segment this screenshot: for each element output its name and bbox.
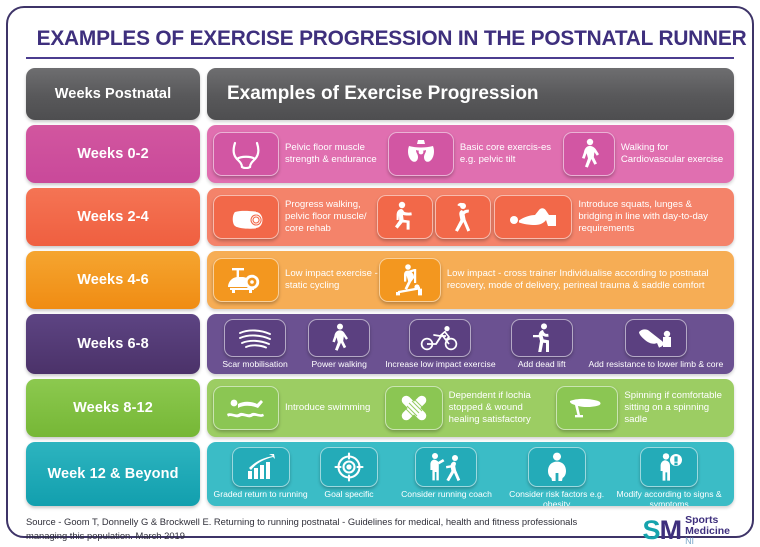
row-content-0-2: Pelvic floor muscle strength & endurance… bbox=[207, 125, 734, 183]
source-line-1: Source - Goom T, Donnelly G & Brockwell … bbox=[26, 515, 577, 529]
exercise-label: Pelvic floor muscle strength & endurance bbox=[285, 142, 388, 165]
header-week-column: Weeks Postnatal bbox=[26, 68, 200, 120]
row-content-4-6: Low impact exercise - static cycling bbox=[207, 251, 734, 309]
obese-person-icon bbox=[528, 447, 586, 487]
bladder-icon bbox=[213, 132, 279, 176]
exercise-label: Low impact exercise - static cycling bbox=[285, 268, 379, 291]
exercise-label: Spinning if comfortable sitting on a spi… bbox=[624, 390, 728, 425]
title-block: EXAMPLES OF EXERCISE PROGRESSION IN THE … bbox=[26, 22, 734, 59]
scar-lines-icon bbox=[224, 319, 286, 357]
exercise-label: Goal specific bbox=[324, 490, 373, 500]
exercise-label: Walking for Cardiovascular exercise bbox=[621, 142, 728, 165]
exercise-label: Basic core exercis-es e.g. pelvic tilt bbox=[460, 142, 563, 165]
exercise-label: Introduce squats, lunges & bridging in l… bbox=[578, 199, 728, 234]
week-label-4-6: Weeks 4-6 bbox=[26, 251, 200, 309]
plaster-cross-icon bbox=[385, 386, 443, 430]
exercise-item[interactable]: Low impact exercise - static cycling bbox=[213, 258, 379, 302]
bridging-person-icon bbox=[494, 195, 572, 239]
deadlift-icon bbox=[511, 319, 573, 357]
exercise-label: Scar mobilisation bbox=[222, 360, 287, 370]
week-label-2-4: Weeks 2-4 bbox=[26, 188, 200, 246]
exercise-label: Modify according to signs & symptoms bbox=[610, 490, 728, 506]
logo-wordmark: Sports Medicine NI bbox=[685, 515, 730, 547]
source-citation: Source - Goom T, Donnelly G & Brockwell … bbox=[26, 515, 577, 542]
exercise-item[interactable]: Low impact - cross trainer Individualise… bbox=[379, 258, 728, 302]
table-header-row: Weeks Postnatal Examples of Exercise Pro… bbox=[26, 68, 734, 120]
exercise-label: Power walking bbox=[311, 360, 366, 370]
sports-medicine-ni-logo: SM Sports Medicine NI bbox=[643, 515, 734, 547]
row-content-12-beyond: Graded return to running Goal specific bbox=[207, 442, 734, 506]
exercise-label: Consider running coach bbox=[401, 490, 492, 500]
exercise-label: Increase low impact exercise bbox=[385, 360, 495, 370]
exercise-item[interactable]: Basic core exercis-es e.g. pelvic tilt bbox=[388, 132, 563, 176]
pelvis-icon bbox=[388, 132, 454, 176]
exercise-label: Low impact - cross trainer Individualise… bbox=[447, 268, 728, 293]
logo-letter-m: M bbox=[660, 515, 682, 545]
exercise-item[interactable]: Dependent if lochia stopped & wound heal… bbox=[385, 386, 557, 430]
exercise-item[interactable]: Consider risk factors e.g. obesity bbox=[503, 447, 610, 506]
exercise-item[interactable]: Walking for Cardiovascular exercise bbox=[563, 132, 728, 176]
table-row: Weeks 8-12 Introduce swimming bbox=[26, 379, 734, 437]
week-label-6-8: Weeks 6-8 bbox=[26, 314, 200, 374]
exercise-item[interactable]: Add dead lift bbox=[500, 319, 584, 370]
table-row: Weeks 2-4 Progress walking, pelvic floor… bbox=[26, 188, 734, 246]
source-line-2: managing this population. March 2019 bbox=[26, 529, 577, 543]
static-bike-icon bbox=[213, 258, 279, 302]
exercise-item[interactable]: Progress walking, pelvic floor muscle/ c… bbox=[213, 195, 377, 239]
row-content-2-4: Progress walking, pelvic floor muscle/ c… bbox=[207, 188, 734, 246]
progression-table: Weeks Postnatal Examples of Exercise Pro… bbox=[26, 68, 734, 506]
squat-person-icon bbox=[377, 195, 433, 239]
exercise-item[interactable]: Power walking bbox=[297, 319, 381, 370]
logo-line-3: NI bbox=[685, 537, 730, 547]
table-row: Weeks 6-8 Scar mobilisation bbox=[26, 314, 734, 374]
lunge-person-icon bbox=[435, 195, 491, 239]
week-label-8-12: Weeks 8-12 bbox=[26, 379, 200, 437]
cross-trainer-icon bbox=[379, 258, 441, 302]
footer: Source - Goom T, Donnelly G & Brockwell … bbox=[26, 513, 734, 547]
logo-letter-s: S bbox=[643, 515, 660, 545]
exercise-label: Consider risk factors e.g. obesity bbox=[503, 490, 610, 506]
exercise-item[interactable]: Increase low impact exercise bbox=[381, 319, 499, 370]
exercise-label: Add resistance to lower limb & core bbox=[589, 360, 724, 370]
target-icon bbox=[320, 447, 378, 487]
exercise-item[interactable]: Consider running coach bbox=[390, 447, 503, 500]
foam-roller-icon bbox=[213, 195, 279, 239]
power-walking-icon bbox=[308, 319, 370, 357]
signs-symptoms-person-icon bbox=[640, 447, 698, 487]
running-coach-icon bbox=[415, 447, 477, 487]
exercise-item[interactable]: Introduce squats, lunges & bridging in l… bbox=[494, 195, 728, 239]
page-title: EXAMPLES OF EXERCISE PROGRESSION IN THE … bbox=[37, 26, 724, 51]
bar-chart-arrow-icon bbox=[232, 447, 290, 487]
bike-saddle-icon bbox=[556, 386, 618, 430]
table-row: Weeks 4-6 Low impact bbox=[26, 251, 734, 309]
exercise-item[interactable] bbox=[435, 195, 494, 239]
exercise-item[interactable]: Introduce swimming bbox=[213, 386, 385, 430]
table-row: Week 12 & Beyond Graded return to runnin… bbox=[26, 442, 734, 506]
logo-mark: SM bbox=[643, 517, 682, 544]
exercise-label: Graded return to running bbox=[214, 490, 308, 500]
title-divider bbox=[26, 57, 734, 59]
exercise-label: Introduce swimming bbox=[285, 402, 370, 414]
row-content-8-12: Introduce swimming bbox=[207, 379, 734, 437]
cyclist-icon bbox=[409, 319, 471, 357]
exercise-label: Dependent if lochia stopped & wound heal… bbox=[449, 390, 557, 425]
exercise-item[interactable]: Spinning if comfortable sitting on a spi… bbox=[556, 386, 728, 430]
infographic-card: EXAMPLES OF EXERCISE PROGRESSION IN THE … bbox=[6, 6, 754, 538]
week-label-12-beyond: Week 12 & Beyond bbox=[26, 442, 200, 506]
exercise-item[interactable]: Goal specific bbox=[308, 447, 390, 500]
header-content-column: Examples of Exercise Progression bbox=[207, 68, 734, 120]
row-content-6-8: Scar mobilisation Power walking bbox=[207, 314, 734, 374]
exercise-label: Add dead lift bbox=[518, 360, 566, 370]
week-label-0-2: Weeks 0-2 bbox=[26, 125, 200, 183]
exercise-item[interactable] bbox=[377, 195, 436, 239]
exercise-item[interactable]: Pelvic floor muscle strength & endurance bbox=[213, 132, 388, 176]
exercise-label: Progress walking, pelvic floor muscle/ c… bbox=[285, 199, 377, 234]
exercise-item[interactable]: Add resistance to lower limb & core bbox=[584, 319, 728, 370]
leg-press-icon bbox=[625, 319, 687, 357]
walking-person-icon bbox=[563, 132, 615, 176]
exercise-item[interactable]: Graded return to running bbox=[213, 447, 308, 500]
exercise-item[interactable]: Modify according to signs & symptoms bbox=[610, 447, 728, 506]
exercise-item[interactable]: Scar mobilisation bbox=[213, 319, 297, 370]
swimmer-icon bbox=[213, 386, 279, 430]
table-row: Weeks 0-2 Pelvic floor muscle strength &… bbox=[26, 125, 734, 183]
